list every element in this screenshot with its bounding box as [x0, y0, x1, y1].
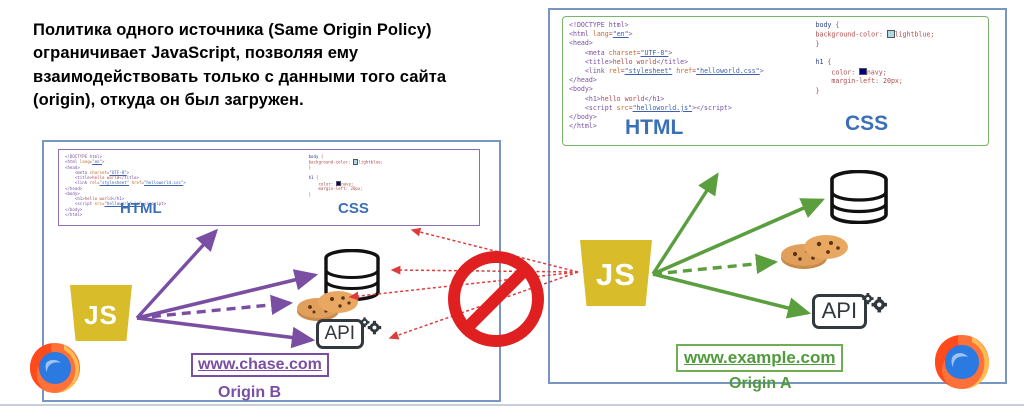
cookies-icon [780, 231, 850, 271]
origin-a-css-label: CSS [845, 112, 888, 136]
origin-b-css-code: body { background-color: lightblue; } h1… [303, 150, 479, 225]
origin-a-html-code: <!DOCTYPE html> <html lang="en"> <head> … [563, 17, 810, 145]
firefox-icon [928, 327, 996, 393]
api-icon: API [316, 313, 382, 355]
prohibition-sign-icon [444, 247, 548, 351]
api-icon: API [812, 288, 888, 336]
js-logo-text: JS [580, 257, 652, 293]
origin-b-label: Origin B [218, 384, 281, 402]
gear-icon [356, 313, 382, 338]
origin-a-css-code: body { background-color: lightblue; } h1… [810, 17, 989, 145]
database-icon [828, 170, 890, 224]
javascript-logo-icon: JS [580, 240, 652, 306]
gear-icon [858, 288, 888, 317]
origin-a-label: Origin A [729, 375, 792, 393]
origin-a-url-chip[interactable]: www.example.com [676, 344, 843, 372]
origin-a-url-text: www.example.com [684, 348, 835, 367]
origin-b-url-text: www.chase.com [198, 356, 322, 373]
origin-b-html-label: HTML [120, 200, 162, 217]
origin-b-html-code: <!DOCTYPE html> <html lang="en"> <head> … [59, 150, 303, 225]
js-logo-text: JS [70, 300, 132, 331]
origin-b-css-label: CSS [338, 200, 369, 217]
caption-text: Политика одного источника (Same Origin P… [33, 19, 503, 113]
bottom-divider [0, 404, 1024, 406]
diagram-stage: Политика одного источника (Same Origin P… [0, 0, 1024, 408]
firefox-icon [24, 336, 86, 396]
origin-b-url-chip[interactable]: www.chase.com [191, 353, 329, 377]
javascript-logo-icon: JS [70, 285, 132, 341]
origin-a-html-label: HTML [625, 116, 683, 140]
